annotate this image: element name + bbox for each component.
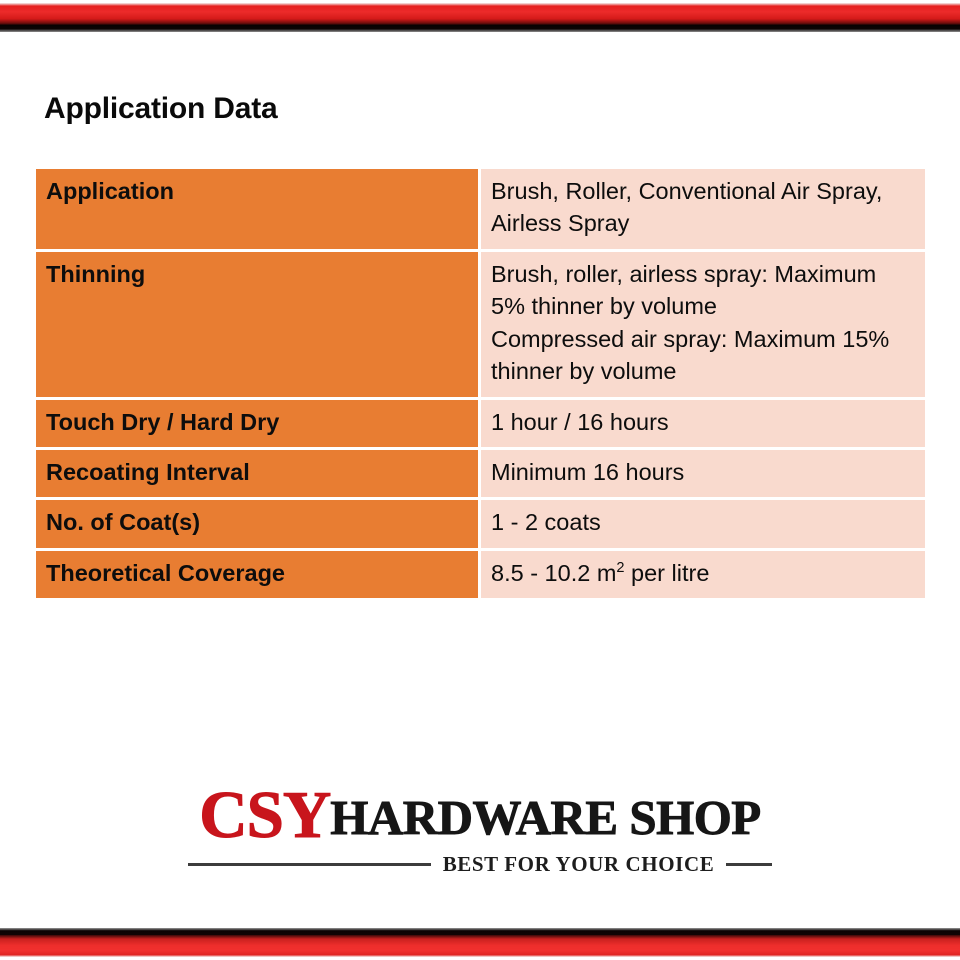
row-value-thinning: Brush, roller, airless spray: Maximum 5%… — [481, 252, 925, 397]
row-label-no-of-coats: No. of Coat(s) — [36, 500, 478, 547]
row-label-touch-dry-hard-dry: Touch Dry / Hard Dry — [36, 400, 478, 447]
page-title: Application Data — [44, 92, 278, 126]
row-value-theoretical-coverage: 8.5 - 10.2 m2 per litre — [481, 551, 925, 598]
application-data-table: Application Brush, Roller, Conventional … — [33, 166, 928, 601]
bottom-decorative-banner — [0, 914, 960, 960]
table-row: Application Brush, Roller, Conventional … — [36, 169, 925, 249]
bottom-red-stripe — [0, 935, 960, 957]
logo-tagline: BEST FOR YOUR CHOICE — [443, 852, 715, 877]
top-red-stripe — [0, 3, 960, 25]
table-row: Thinning Brush, roller, airless spray: M… — [36, 252, 925, 397]
csy-hardware-shop-logo: CSYHARDWARE SHOP BEST FOR YOUR CHOICE — [0, 782, 960, 877]
thinning-line-1: Brush, roller, airless spray: Maximum 5%… — [491, 258, 915, 323]
row-label-thinning: Thinning — [36, 252, 478, 397]
tagline-rule-right — [726, 863, 772, 866]
coverage-unit-superscript: 2 — [616, 560, 624, 576]
row-value-no-of-coats: 1 - 2 coats — [481, 500, 925, 547]
coverage-value-prefix: 8.5 - 10.2 m — [491, 560, 616, 586]
logo-name-hardware-shop: HARDWARE SHOP — [330, 790, 760, 845]
logo-tagline-row: BEST FOR YOUR CHOICE — [191, 852, 769, 877]
table-row: Touch Dry / Hard Dry 1 hour / 16 hours — [36, 400, 925, 447]
row-value-application: Brush, Roller, Conventional Air Spray, A… — [481, 169, 925, 249]
coverage-value-suffix: per litre — [625, 560, 710, 586]
table-row: Theoretical Coverage 8.5 - 10.2 m2 per l… — [36, 551, 925, 598]
top-black-stripe — [0, 25, 960, 32]
logo-wordmark: CSYHARDWARE SHOP — [199, 782, 761, 849]
top-decorative-banner — [0, 0, 960, 34]
row-label-theoretical-coverage: Theoretical Coverage — [36, 551, 478, 598]
tagline-rule-left — [188, 863, 431, 866]
row-value-touch-dry-hard-dry: 1 hour / 16 hours — [481, 400, 925, 447]
row-label-recoating-interval: Recoating Interval — [36, 450, 478, 497]
logo-brand-csy: CSY — [199, 778, 330, 852]
thinning-line-2: Compressed air spray: Maximum 15% thinne… — [491, 323, 915, 388]
table-row: No. of Coat(s) 1 - 2 coats — [36, 500, 925, 547]
table-row: Recoating Interval Minimum 16 hours — [36, 450, 925, 497]
row-label-application: Application — [36, 169, 478, 249]
row-value-recoating-interval: Minimum 16 hours — [481, 450, 925, 497]
